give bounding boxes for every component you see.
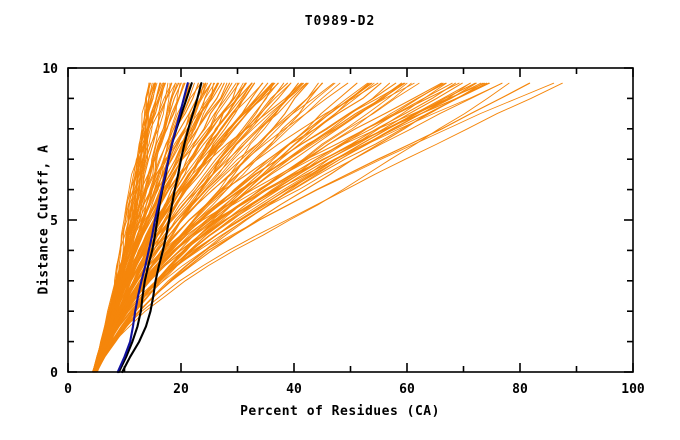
y-tick-label: 0 xyxy=(50,366,58,381)
x-tick-label: 60 xyxy=(399,382,415,397)
x-tick-label: 0 xyxy=(64,382,72,397)
chart-canvas: 0204060801000510 xyxy=(0,0,680,440)
x-tick-label: 40 xyxy=(286,382,302,397)
chart-figure: T0989-D2 0204060801000510 Percent of Res… xyxy=(0,0,680,440)
x-tick-label: 100 xyxy=(621,382,645,397)
y-axis-label: Distance Cutoff, A xyxy=(37,80,52,360)
x-axis-label: Percent of Residues (CA) xyxy=(0,404,680,419)
x-tick-label: 80 xyxy=(512,382,528,397)
model-curves-layer xyxy=(92,83,562,372)
y-tick-label: 10 xyxy=(42,62,58,77)
x-tick-label: 20 xyxy=(173,382,189,397)
